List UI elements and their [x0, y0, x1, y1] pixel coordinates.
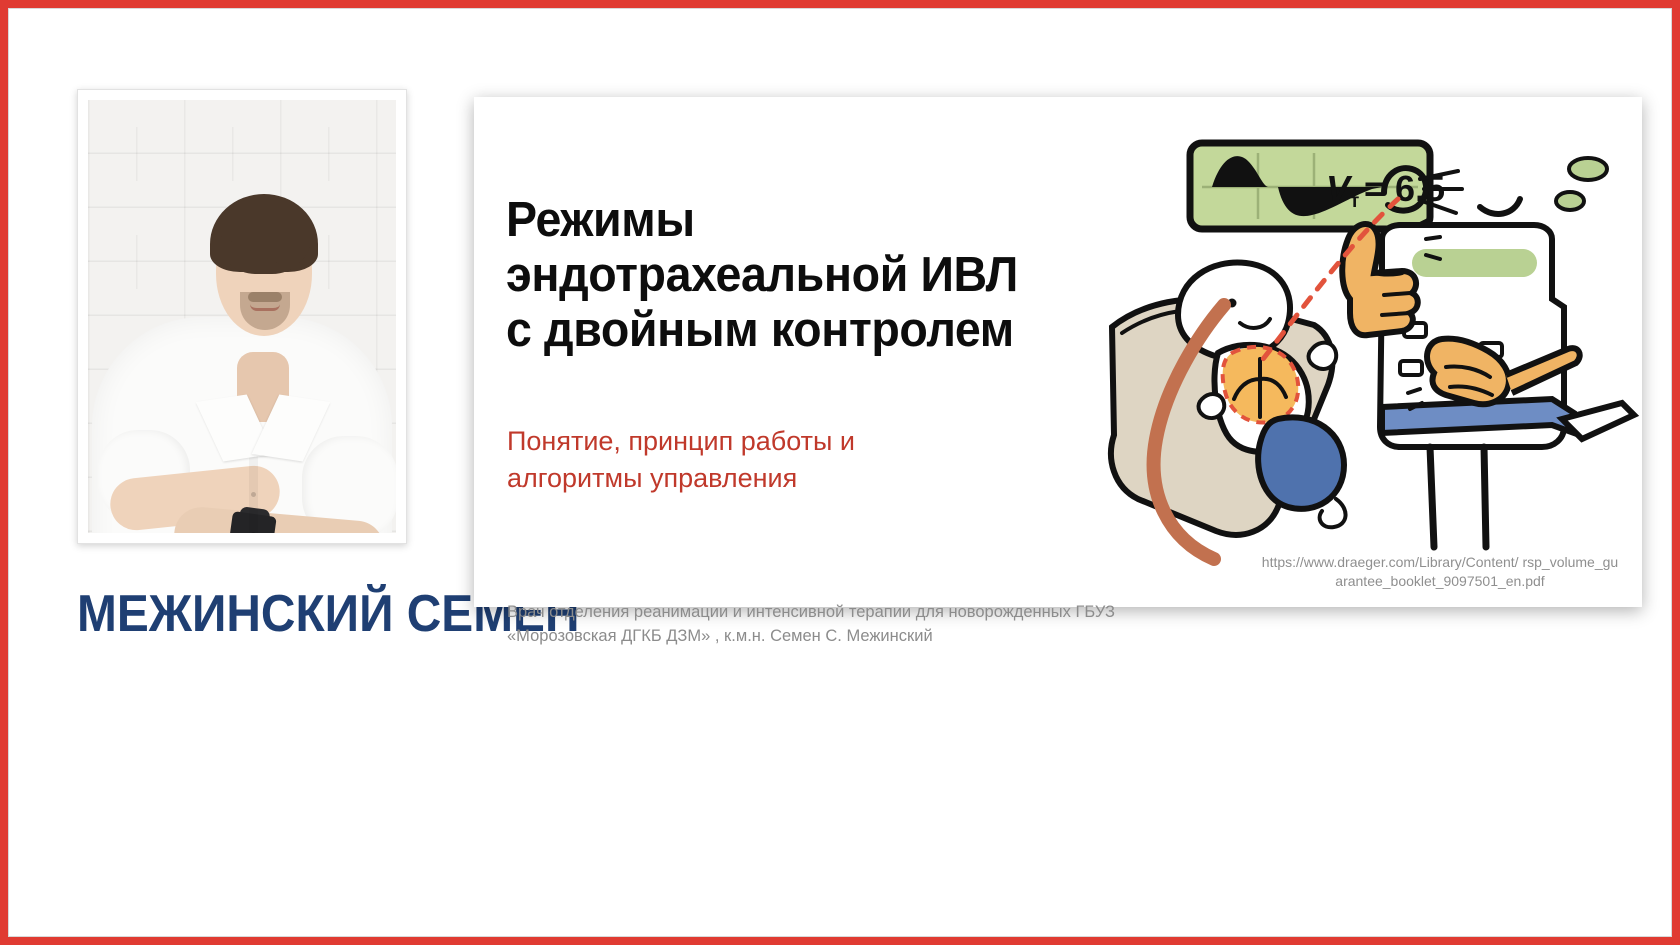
author-name: МЕЖИНСКИЙ СЕМЕН: [77, 588, 381, 640]
cartoon-illustration: .ol { fill:none; stroke:#111; stroke-wid…: [1082, 127, 1642, 597]
thought-bubble-large: [1569, 158, 1607, 180]
ventilator-tray: [1562, 403, 1634, 439]
portrait-shirt-button: [251, 532, 256, 533]
slide-subtitle: Понятие, принцип работы и алгоритмы упра…: [507, 423, 987, 498]
author-block: МЕЖИНСКИЙ СЕМЕН: [77, 89, 407, 640]
portrait-figure: [88, 100, 396, 533]
portrait-moustache: [248, 292, 282, 302]
slide-title: Режимы эндотрахеальной ИВЛ с двойным кон…: [506, 193, 1105, 358]
slide-title-line-2: эндотрахеальной ИВЛ: [506, 248, 1018, 302]
portrait-hair: [210, 194, 318, 272]
slide-affiliation: Врач отделения реанимации и интенсивной …: [507, 601, 1147, 649]
author-photo-frame: [77, 89, 407, 544]
presentation-slide[interactable]: Режимы эндотрахеальной ИВЛ с двойным кон…: [474, 97, 1642, 607]
svg-text:т: т: [1350, 191, 1359, 212]
ventilator-legs: [1430, 447, 1486, 547]
ventilator-monitor-display: V т = 6,5: [1190, 143, 1445, 229]
neonate-hand-left: [1199, 394, 1225, 418]
neonate-diaper: [1258, 417, 1344, 509]
ventilator-smile: [1480, 199, 1520, 214]
ventilator-readout-bar: [1412, 249, 1537, 277]
svg-text:V: V: [1326, 168, 1353, 209]
neonate-bed-group: [1111, 262, 1346, 559]
page-canvas: МЕЖИНСКИЙ СЕМЕН Режимы эндотрахеальной И…: [8, 8, 1672, 937]
portrait-shirt-button: [251, 492, 256, 497]
author-photo: [88, 100, 396, 533]
cartoon-illustration-svg: .ol { fill:none; stroke:#111; stroke-wid…: [1082, 127, 1642, 597]
slide-frame: МЕЖИНСКИЙ СЕМЕН Режимы эндотрахеальной И…: [0, 0, 1680, 945]
portrait-mouth: [250, 304, 280, 311]
neonate-hand-right: [1309, 343, 1337, 369]
slide-subtitle-line-2: алгоритмы управления: [507, 463, 797, 493]
thought-bubble-small: [1556, 192, 1584, 210]
slide-title-line-3: с двойным контролем: [506, 303, 1014, 357]
slide-title-line-1: Режимы: [506, 193, 695, 247]
slide-subtitle-line-1: Понятие, принцип работы и: [507, 426, 855, 456]
